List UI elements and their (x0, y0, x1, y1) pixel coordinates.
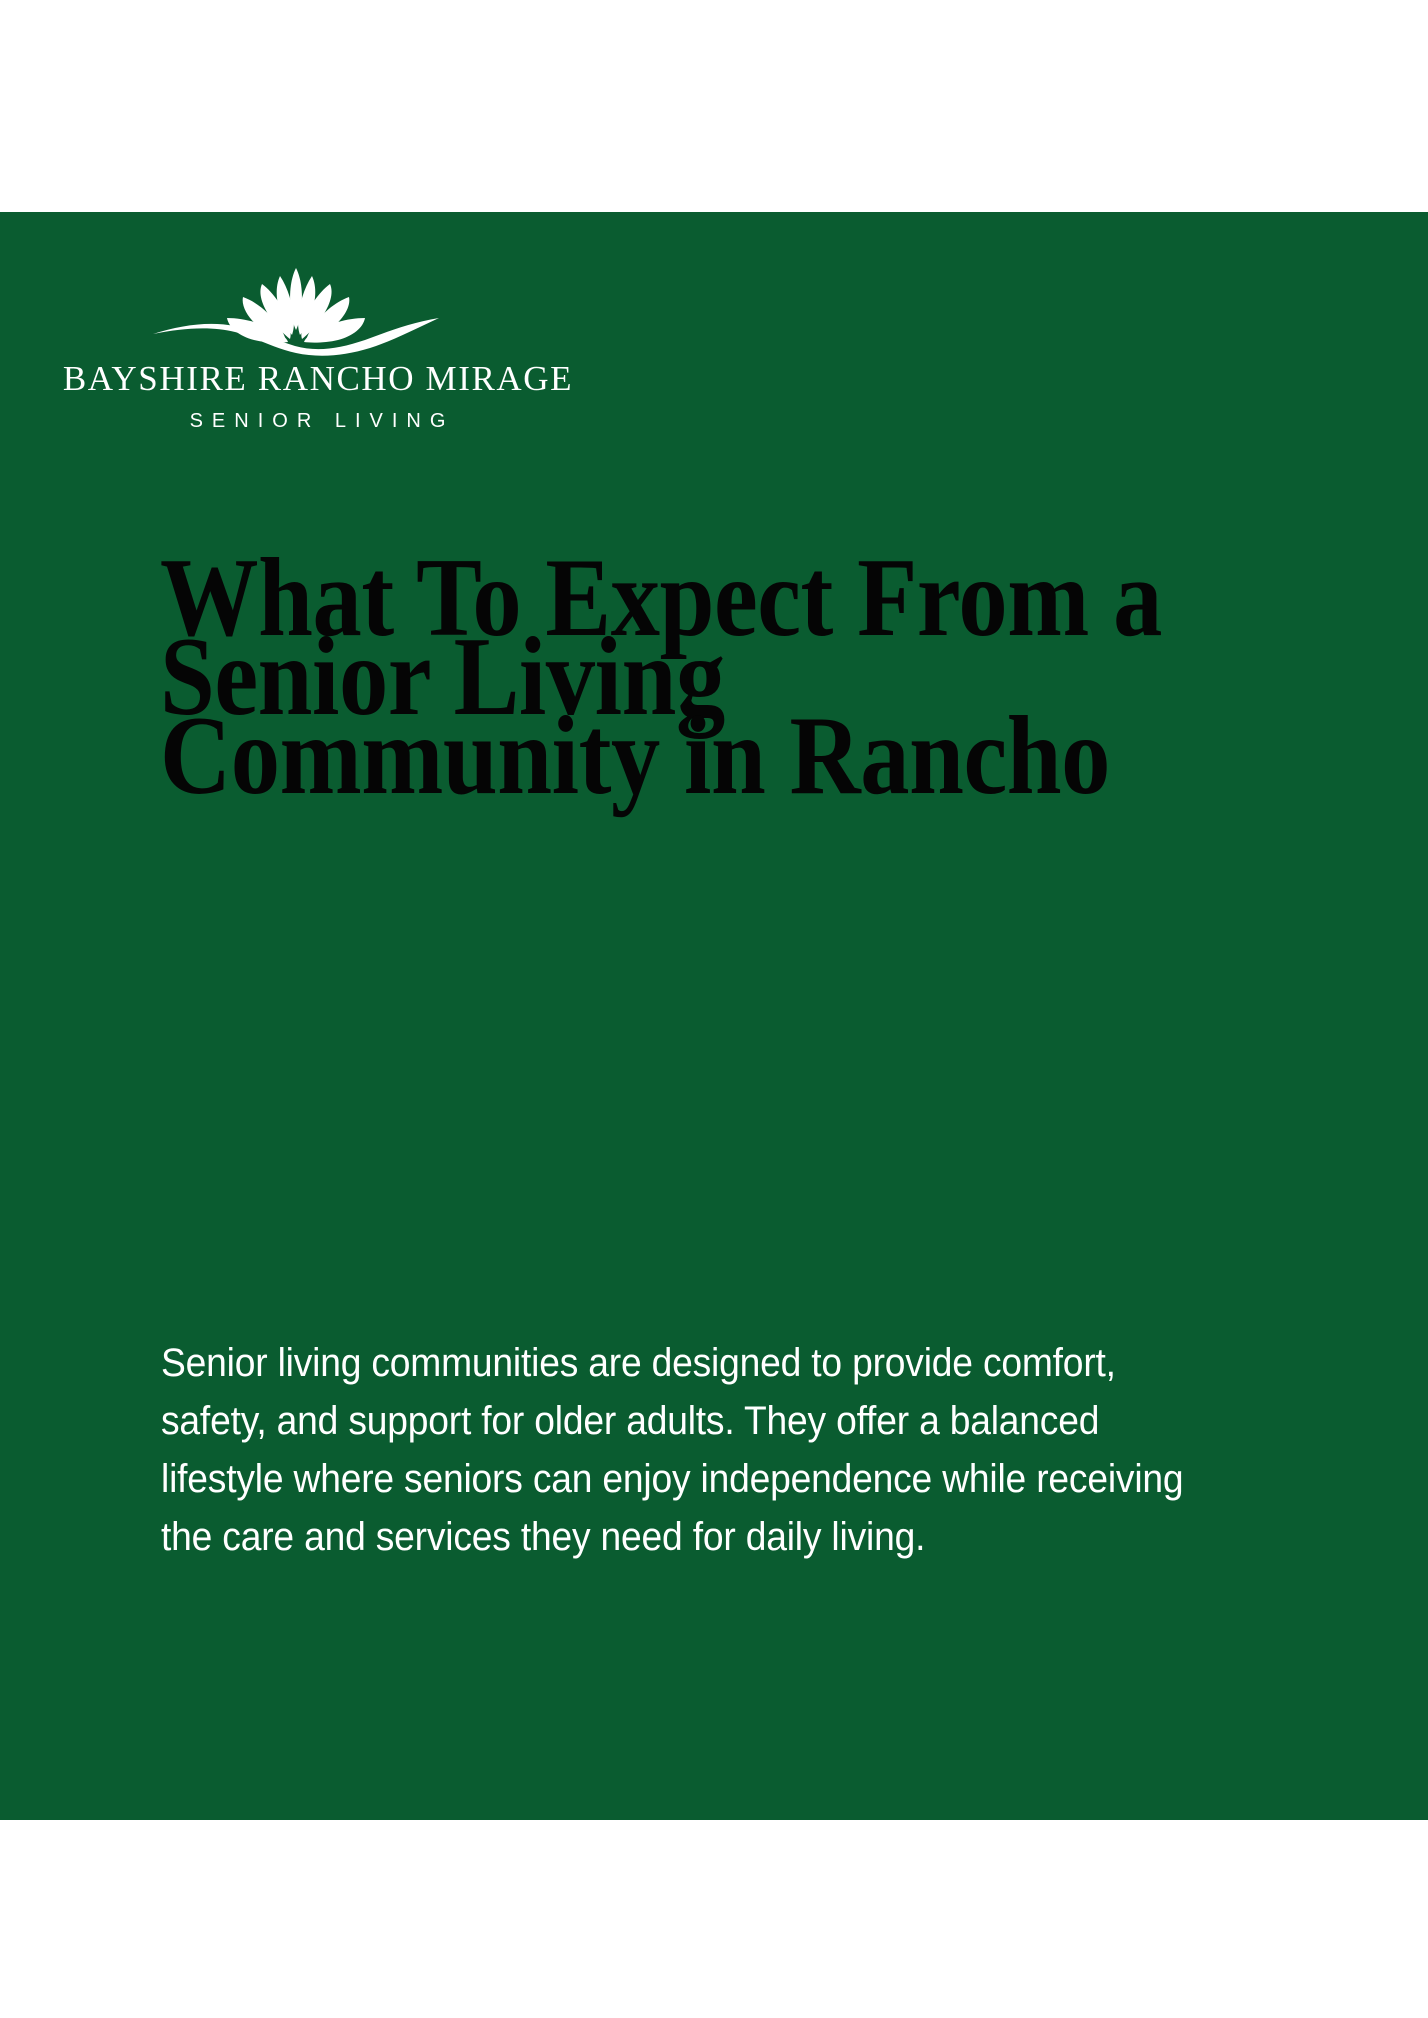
headline-line-3: Community in Rancho (160, 717, 1322, 796)
brand-logo[interactable]: BAYSHIRE RANCHO MIRAGE SENIOR LIVING (33, 262, 603, 433)
green-content-card: BAYSHIRE RANCHO MIRAGE SENIOR LIVING Wha… (0, 212, 1428, 1820)
page-title: What To Expect From a Senior Living Comm… (160, 559, 1322, 796)
body-line-2: safety, and support for older adults. Th… (161, 1392, 1428, 1450)
body-line-1: Senior living communities are designed t… (161, 1334, 1428, 1392)
lotus-flower-icon (151, 262, 441, 358)
brand-tagline: SENIOR LIVING (33, 410, 603, 433)
brand-wordmark: BAYSHIRE RANCHO MIRAGE (33, 360, 603, 398)
body-line-4: the care and services they need for dail… (161, 1508, 1428, 1566)
body-paragraph: Senior living communities are designed t… (161, 1334, 1428, 1566)
body-line-3: lifestyle where seniors can enjoy indepe… (161, 1450, 1428, 1508)
